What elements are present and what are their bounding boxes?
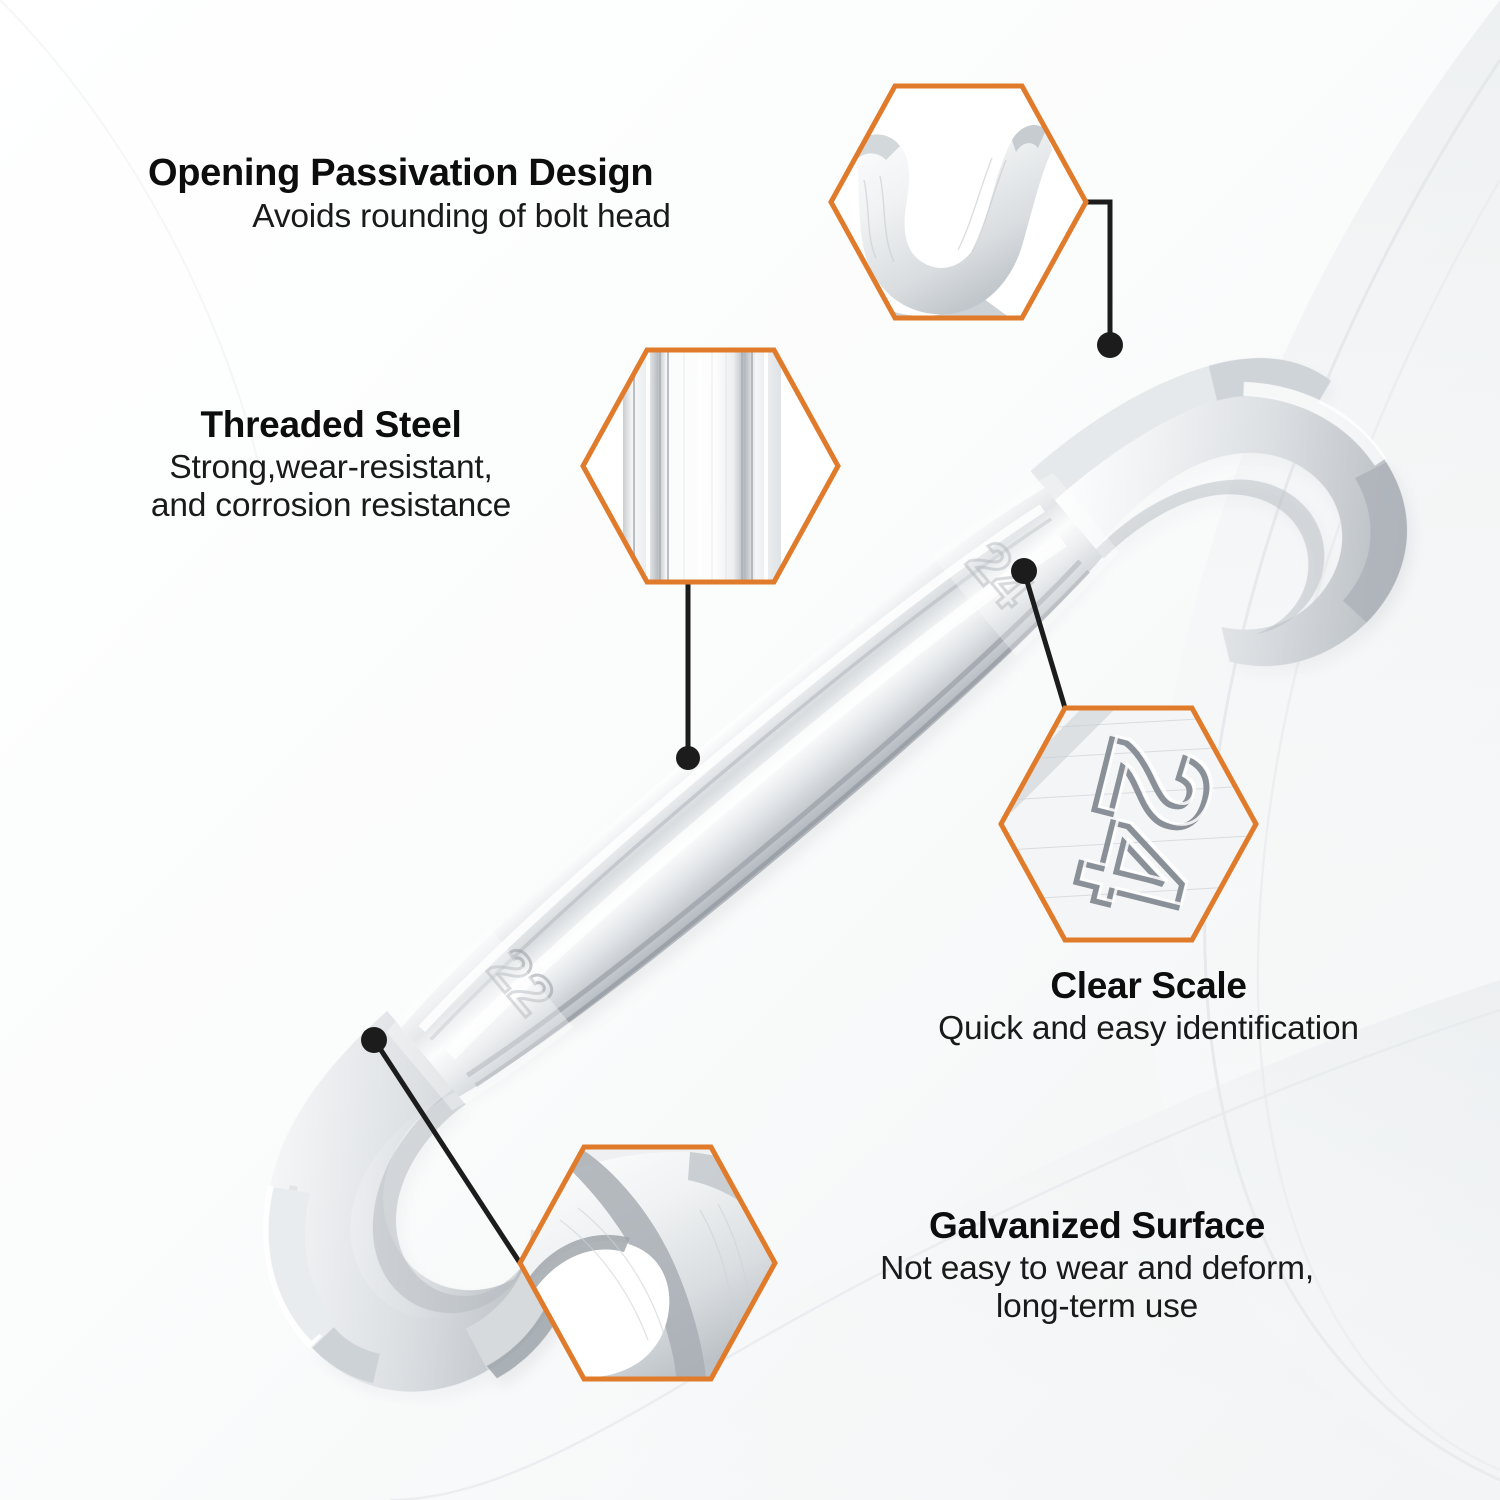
callout-scale-subtitle: Quick and easy identification — [876, 1010, 1421, 1048]
callout-scale-title: Clear Scale — [876, 965, 1421, 1007]
leader-scale — [1011, 558, 1065, 708]
callout-opening-passivation: Opening Passivation Design Avoids roundi… — [148, 152, 775, 237]
callout-threaded-title: Threaded Steel — [96, 404, 566, 446]
callout-clear-scale: Clear Scale Quick and easy identificatio… — [876, 965, 1421, 1048]
hex-clear-scale: 24 24 — [1001, 700, 1256, 940]
leader-opening — [1086, 202, 1123, 358]
callout-galvanized-subtitle: Not easy to wear and deform, long-term u… — [812, 1250, 1382, 1326]
leader-galvanized — [361, 1027, 520, 1263]
callout-opening-subtitle: Avoids rounding of bolt head — [148, 198, 775, 236]
hex-threaded-steel — [583, 350, 838, 582]
callout-threaded-steel: Threaded Steel Strong,wear-resistant, an… — [96, 404, 566, 526]
product-feature-infographic: 22 24 — [0, 0, 1500, 1500]
leader-threaded — [676, 582, 700, 770]
callout-threaded-subtitle: Strong,wear-resistant, and corrosion res… — [96, 449, 566, 525]
callout-galvanized-title: Galvanized Surface — [812, 1205, 1382, 1247]
hex-galvanized-surface — [520, 1147, 780, 1379]
callout-opening-title: Opening Passivation Design — [148, 152, 775, 195]
callout-galvanized-surface: Galvanized Surface Not easy to wear and … — [812, 1205, 1382, 1327]
hex-opening-passivation — [831, 86, 1086, 318]
